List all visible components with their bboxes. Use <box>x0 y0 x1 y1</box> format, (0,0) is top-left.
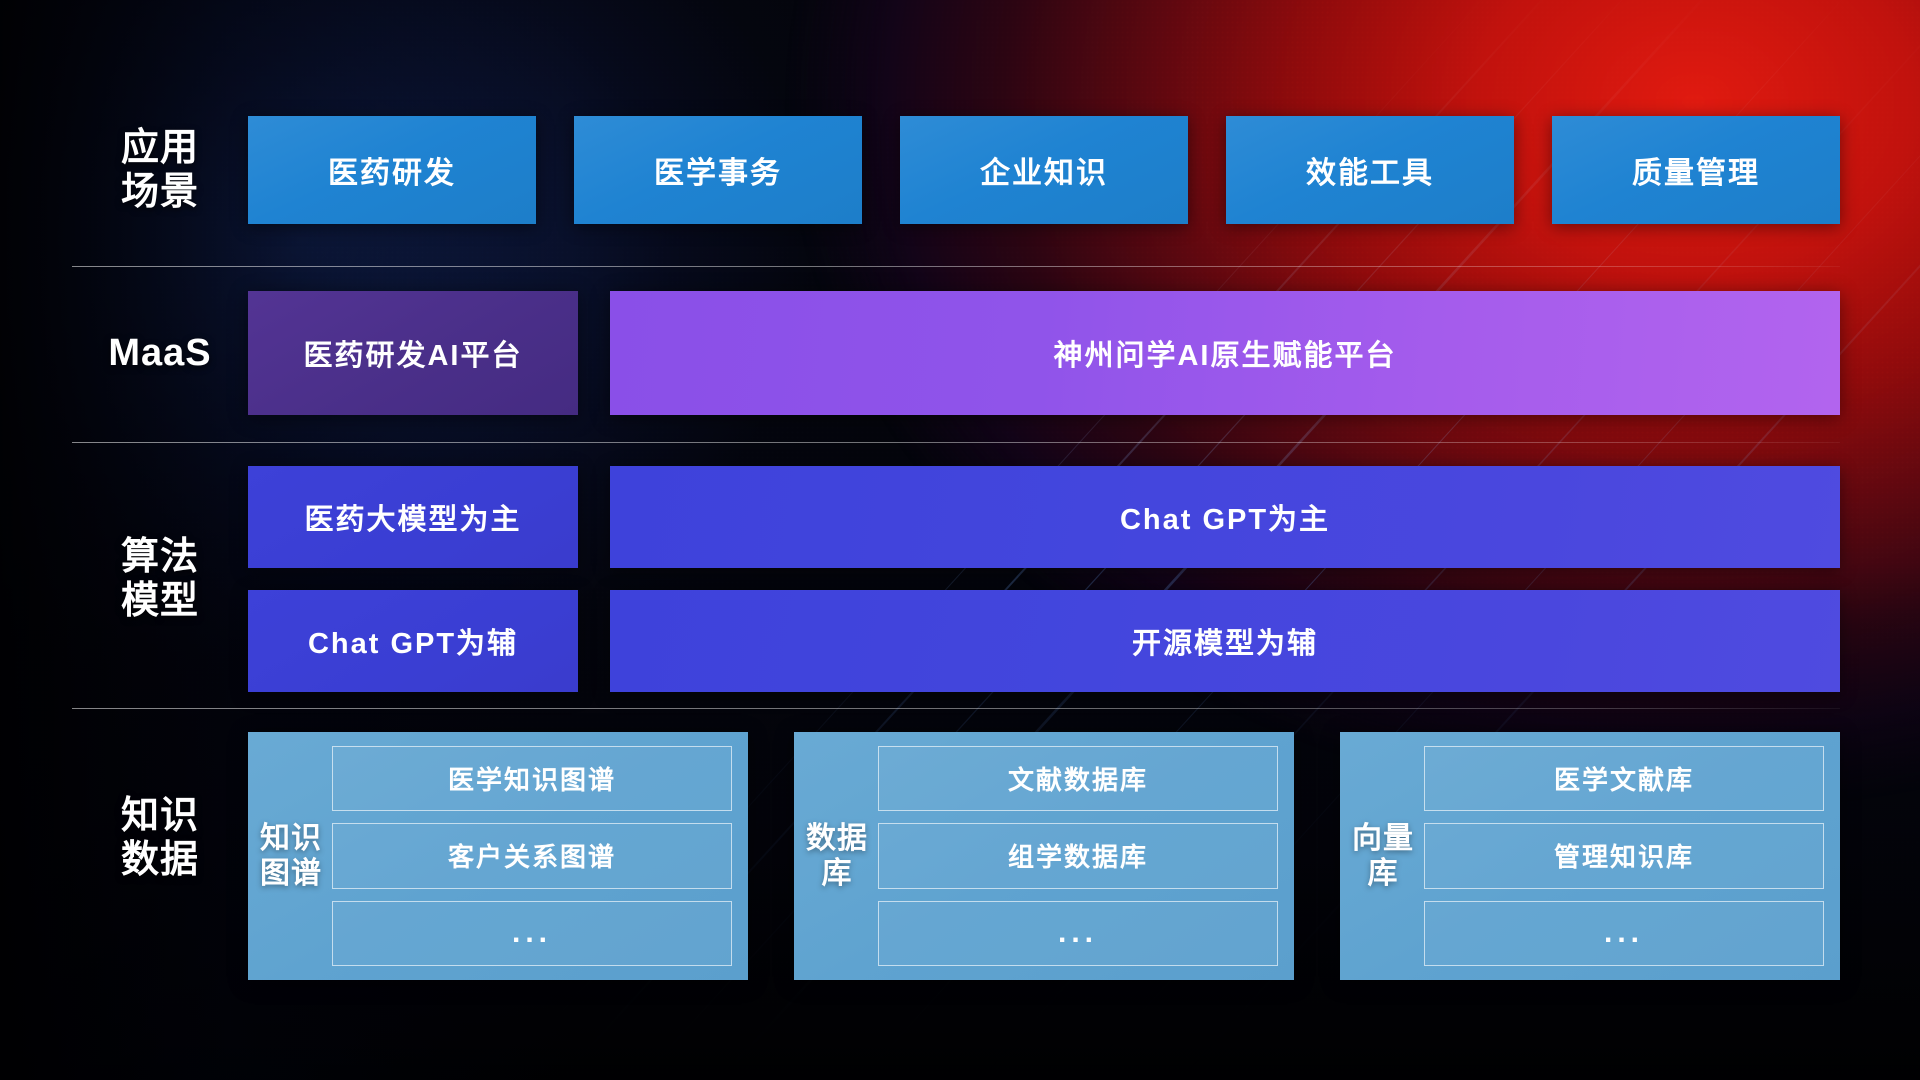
knowledge-item-medical-literature-store[interactable]: 医学文献库 <box>1424 746 1824 811</box>
algo-card-chatgpt-primary[interactable]: Chat GPT为主 <box>610 466 1840 568</box>
knowledge-group-database: 数据库 文献数据库 组学数据库 ... <box>794 732 1294 980</box>
app-card-efficiency-tools[interactable]: 效能工具 <box>1226 116 1514 224</box>
algo-card-opensource-secondary[interactable]: 开源模型为辅 <box>610 590 1840 692</box>
algo-card-pharma-llm-primary[interactable]: 医药大模型为主 <box>248 466 578 568</box>
algo-card-chatgpt-secondary[interactable]: Chat GPT为辅 <box>248 590 578 692</box>
knowledge-group-knowledge-graph: 知识图谱 医学知识图谱 客户关系图谱 ... <box>248 732 748 980</box>
row-label-knowledge-data: 知识 数据 <box>72 732 248 882</box>
algorithm-model-line-secondary: Chat GPT为辅 开源模型为辅 <box>248 590 1840 692</box>
divider-apps-maas <box>72 266 1840 267</box>
row-knowledge-data: 知识 数据 知识图谱 医学知识图谱 客户关系图谱 ... 数据库 文献数据库 组… <box>72 732 1840 982</box>
knowledge-item-literature-database[interactable]: 文献数据库 <box>878 746 1278 811</box>
app-card-drug-rd[interactable]: 医药研发 <box>248 116 536 224</box>
knowledge-item-more-vector-store[interactable]: ... <box>1424 901 1824 966</box>
row-maas: MaaS 医药研发AI平台 神州问学AI原生赋能平台 <box>72 290 1840 416</box>
knowledge-item-customer-relation-graph[interactable]: 客户关系图谱 <box>332 823 732 888</box>
knowledge-group-title-vector-store: 向量库 <box>1346 746 1420 966</box>
divider-maas-algo <box>72 442 1840 443</box>
knowledge-item-management-knowledge-store[interactable]: 管理知识库 <box>1424 823 1824 888</box>
knowledge-item-more-knowledge-graph[interactable]: ... <box>332 901 732 966</box>
row-label-algorithm-models: 算法 模型 <box>72 535 248 623</box>
knowledge-item-omics-database[interactable]: 组学数据库 <box>878 823 1278 888</box>
app-card-enterprise-knowledge[interactable]: 企业知识 <box>900 116 1188 224</box>
knowledge-item-medical-knowledge-graph[interactable]: 医学知识图谱 <box>332 746 732 811</box>
knowledge-item-list-vector-store: 医学文献库 管理知识库 ... <box>1420 746 1824 966</box>
algorithm-model-cards: 医药大模型为主 Chat GPT为主 Chat GPT为辅 开源模型为辅 <box>248 466 1840 692</box>
row-application-scenarios: 应用 场景 医药研发 医学事务 企业知识 效能工具 质量管理 <box>72 108 1840 232</box>
app-card-quality-management[interactable]: 质量管理 <box>1552 116 1840 224</box>
knowledge-group-title-database: 数据库 <box>800 746 874 966</box>
divider-algo-knowledge <box>72 708 1840 709</box>
knowledge-item-list-database: 文献数据库 组学数据库 ... <box>874 746 1278 966</box>
maas-cards: 医药研发AI平台 神州问学AI原生赋能平台 <box>248 291 1840 415</box>
app-card-medical-affairs[interactable]: 医学事务 <box>574 116 862 224</box>
architecture-diagram: 应用 场景 医药研发 医学事务 企业知识 效能工具 质量管理 MaaS 医药研发… <box>0 0 1920 1080</box>
knowledge-item-list-knowledge-graph: 医学知识图谱 客户关系图谱 ... <box>328 746 732 966</box>
knowledge-group-vector-store: 向量库 医学文献库 管理知识库 ... <box>1340 732 1840 980</box>
maas-card-drug-rd-ai-platform[interactable]: 医药研发AI平台 <box>248 291 578 415</box>
row-label-maas: MaaS <box>72 331 248 375</box>
application-scenario-cards: 医药研发 医学事务 企业知识 效能工具 质量管理 <box>248 116 1840 224</box>
row-label-application-scenarios: 应用 场景 <box>72 126 248 214</box>
maas-card-shenzhou-wenxue-platform[interactable]: 神州问学AI原生赋能平台 <box>610 291 1840 415</box>
row-algorithm-models: 算法 模型 医药大模型为主 Chat GPT为主 Chat GPT为辅 开源模型… <box>72 466 1840 692</box>
algorithm-model-line-primary: 医药大模型为主 Chat GPT为主 <box>248 466 1840 568</box>
knowledge-data-groups: 知识图谱 医学知识图谱 客户关系图谱 ... 数据库 文献数据库 组学数据库 .… <box>248 732 1840 980</box>
knowledge-group-title-knowledge-graph: 知识图谱 <box>254 746 328 966</box>
knowledge-item-more-database[interactable]: ... <box>878 901 1278 966</box>
